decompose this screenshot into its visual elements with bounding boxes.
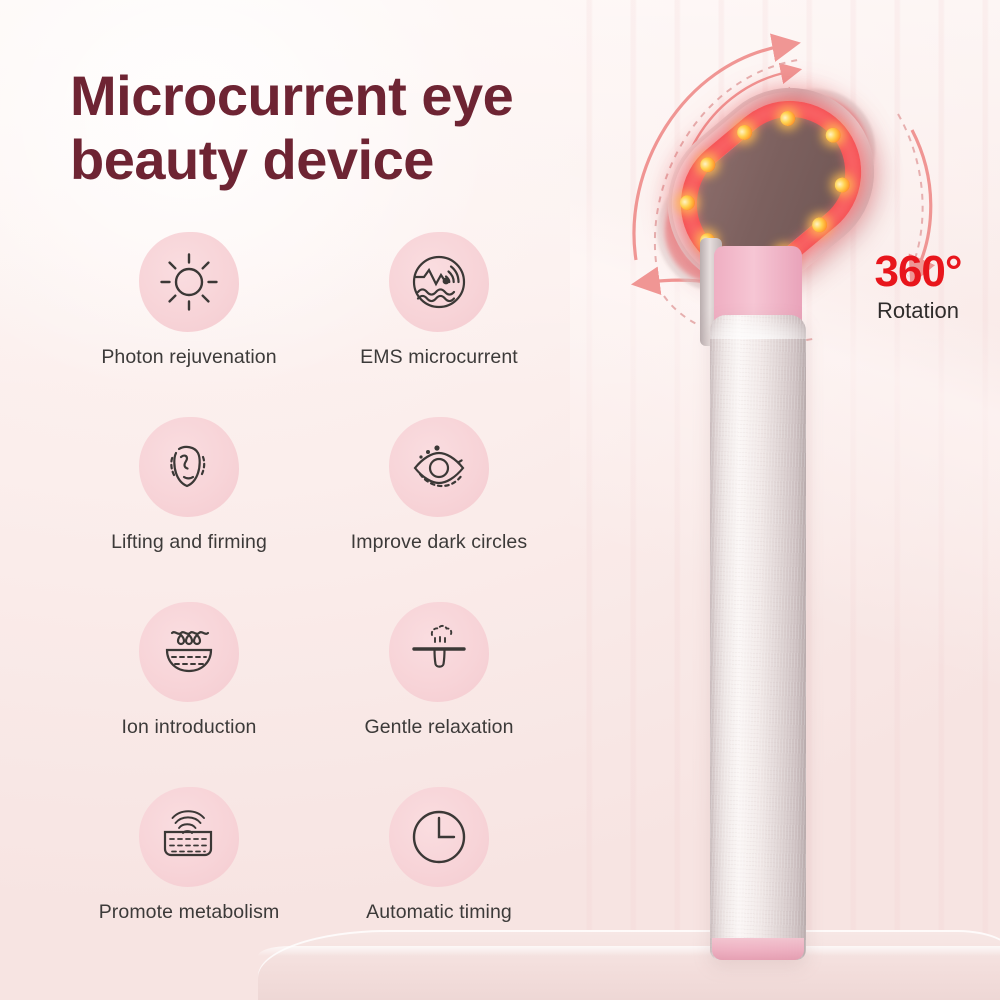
feature-icon-blob xyxy=(389,417,489,517)
feature-row: Photon rejuvenation xyxy=(64,232,564,417)
feature-item-ion-introduction: Ion introduction xyxy=(64,602,314,787)
feature-label: Improve dark circles xyxy=(351,531,527,554)
feature-item-improve-dark-circles: Improve dark circles xyxy=(314,417,564,602)
feature-label: Gentle relaxation xyxy=(364,716,513,739)
feature-label: EMS microcurrent xyxy=(360,346,518,369)
handle-base-cap xyxy=(712,938,804,960)
feature-icon-blob xyxy=(139,232,239,332)
feature-label: Ion introduction xyxy=(122,716,257,739)
device-handle xyxy=(710,315,806,960)
skin-wave-icon xyxy=(156,807,222,867)
product-marketing-image: Microcurrent eye beauty device Photon re… xyxy=(0,0,1000,1000)
clock-icon xyxy=(408,806,470,868)
pore-steam-icon xyxy=(407,621,471,683)
feature-item-promote-metabolism: Promote metabolism xyxy=(64,787,314,972)
title-line-2: beauty device xyxy=(70,128,630,192)
feature-icon-blob xyxy=(389,602,489,702)
feature-icon-blob xyxy=(389,232,489,332)
sun-icon xyxy=(158,251,220,313)
droplet-absorption-icon xyxy=(156,623,222,681)
feature-icon-blob xyxy=(389,787,489,887)
feature-row: Lifting and firming xyxy=(64,417,564,602)
face-lifting-icon xyxy=(157,435,221,499)
feature-row: Ion introduction Gen xyxy=(64,602,564,787)
rotation-degrees: 360° xyxy=(848,250,988,294)
eye-icon xyxy=(406,438,472,496)
title-line-1: Microcurrent eye xyxy=(70,64,513,127)
feature-label: Lifting and firming xyxy=(111,531,267,554)
feature-label: Promote metabolism xyxy=(99,901,280,924)
feature-icon-blob xyxy=(139,417,239,517)
feature-item-ems-microcurrent: EMS microcurrent xyxy=(314,232,564,417)
handle-top-highlight xyxy=(710,315,806,339)
page-title: Microcurrent eye beauty device xyxy=(70,64,630,192)
feature-icon-blob xyxy=(139,602,239,702)
feature-label: Photon rejuvenation xyxy=(101,346,276,369)
handle-texture xyxy=(710,315,806,960)
feature-list: Photon rejuvenation xyxy=(64,232,564,972)
feature-item-gentle-relaxation: Gentle relaxation xyxy=(314,602,564,787)
feature-label: Automatic timing xyxy=(366,901,512,924)
product-device: 360° Rotation xyxy=(612,10,1000,1000)
feature-icon-blob xyxy=(139,787,239,887)
feature-item-photon-rejuvenation: Photon rejuvenation xyxy=(64,232,314,417)
rotation-caption: Rotation xyxy=(848,298,988,324)
ems-wave-icon xyxy=(407,250,471,314)
feature-item-lifting-and-firming: Lifting and firming xyxy=(64,417,314,602)
rotation-callout: 360° Rotation xyxy=(848,250,988,324)
